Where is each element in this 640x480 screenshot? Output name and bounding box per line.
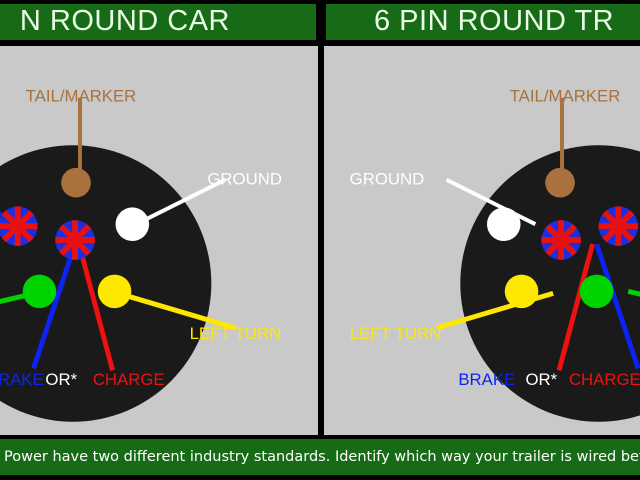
ground-pin (487, 207, 521, 241)
ground-pin (116, 207, 150, 241)
brake-charge-pin (55, 220, 95, 260)
diagram-canvas: N ROUND CAR 6 PIN ROUND TR (0, 0, 640, 480)
right-panel-title: 6 PIN ROUND TR (374, 5, 614, 38)
left-turn-label: LEFT TURN (350, 324, 442, 343)
or-label: OR* (45, 370, 77, 389)
right-connector-panel: TAIL/MARKER GROUND LEFT TURN BRAKE OR* C… (322, 44, 640, 437)
aux-starburst-pin (599, 206, 639, 246)
right-connector-drawing: TAIL/MARKER GROUND LEFT TURN BRAKE OR* C… (324, 46, 640, 435)
left-connector-drawing: TAIL/MARKER GROUND LEFT TURN RAKE OR* CH… (0, 46, 318, 435)
left-turn-pin (505, 275, 539, 309)
brake-label: RAKE (0, 370, 44, 389)
left-panel-header: N ROUND CAR (0, 2, 318, 42)
charge-label: CHARGE (569, 370, 640, 389)
right-turn-pin (23, 275, 57, 309)
tail-marker-pin (545, 168, 575, 198)
or-label: OR* (525, 370, 557, 389)
ground-label: GROUND (350, 170, 425, 189)
tail-marker-label: TAIL/MARKER (510, 87, 621, 106)
footer-note-text: Power have two different industry standa… (4, 449, 640, 465)
charge-label: CHARGE (93, 370, 165, 389)
left-connector-panel: TAIL/MARKER GROUND LEFT TURN RAKE OR* CH… (0, 44, 320, 437)
ground-label: GROUND (207, 170, 282, 189)
tail-marker-label: TAIL/MARKER (26, 87, 137, 106)
brake-charge-pin (541, 220, 581, 260)
tail-marker-pin (61, 168, 91, 198)
left-turn-label: LEFT TURN (190, 324, 282, 343)
footer-note-bar: Power have two different industry standa… (0, 437, 640, 477)
right-turn-pin (580, 275, 614, 309)
left-turn-pin (98, 275, 132, 309)
left-panel-title: N ROUND CAR (20, 5, 230, 38)
right-panel-header: 6 PIN ROUND TR (324, 2, 640, 42)
brake-label: BRAKE (458, 370, 515, 389)
